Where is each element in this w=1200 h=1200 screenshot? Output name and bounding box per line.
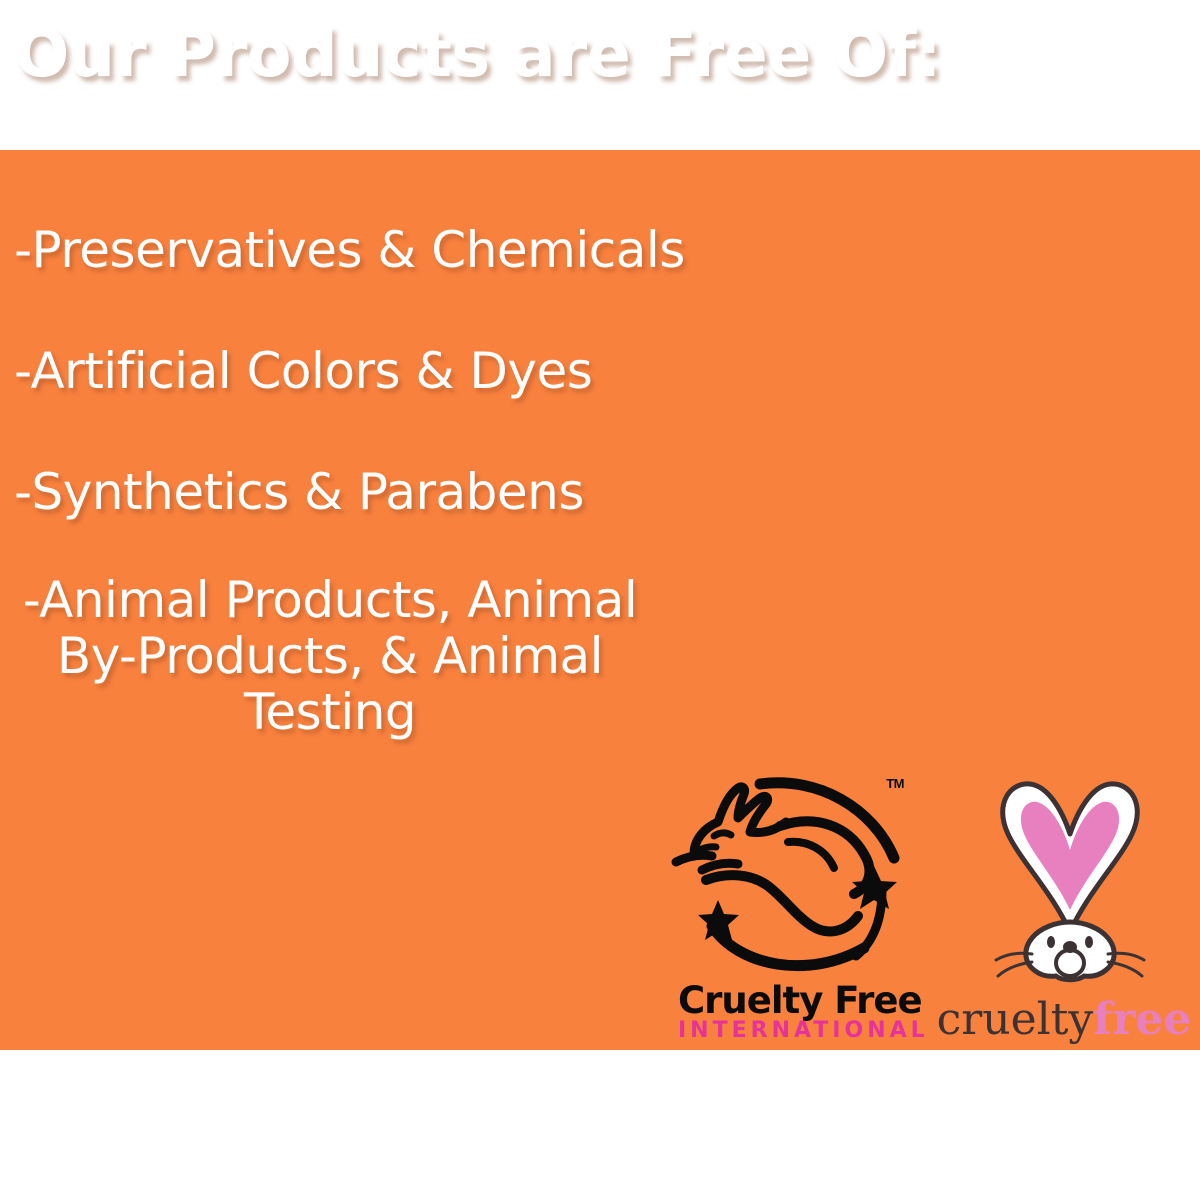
cfi-wordmark-label: Cruelty Free bbox=[678, 982, 908, 1019]
star-icon-right bbox=[852, 866, 897, 909]
cruelty-free-bunny-logo: crueltyfree bbox=[928, 770, 1200, 1060]
cf-wordmark: crueltyfree bbox=[928, 998, 1200, 1042]
page-title: Our Products are Free Of: bbox=[14, 22, 974, 87]
cf-wordmark-part-cruelty: cruelty bbox=[937, 994, 1094, 1045]
trademark-symbol: TM bbox=[886, 776, 904, 791]
cfi-subline-label: INTERNATIONAL bbox=[678, 1020, 908, 1042]
text-column: Our Products are Free Of: -Preservatives… bbox=[0, 0, 700, 900]
poster-canvas: Our Products are Free Of: -Preservatives… bbox=[0, 0, 1200, 1200]
cruelty-free-international-logo: TM Cruelty Free INTERNATIONAL bbox=[660, 770, 910, 1060]
cf-wordmark-part-free: free bbox=[1093, 994, 1191, 1045]
certification-logos: TM Cruelty Free INTERNATIONAL bbox=[660, 770, 1200, 1060]
bullet-item-preservatives: -Preservatives & Chemicals bbox=[14, 222, 685, 278]
bunny-heart-ears-icon bbox=[980, 772, 1160, 1002]
bunny-eye-left bbox=[1047, 936, 1055, 948]
bullet-item-animal-products: -Animal Products, Animal By-Products, & … bbox=[0, 572, 660, 740]
leaping-rabbit-icon bbox=[668, 770, 908, 985]
bullet-item-artificial-colors: -Artificial Colors & Dyes bbox=[14, 343, 592, 399]
bunny-eye-right bbox=[1085, 936, 1093, 948]
bullet-item-synthetics: -Synthetics & Parabens bbox=[14, 464, 584, 520]
